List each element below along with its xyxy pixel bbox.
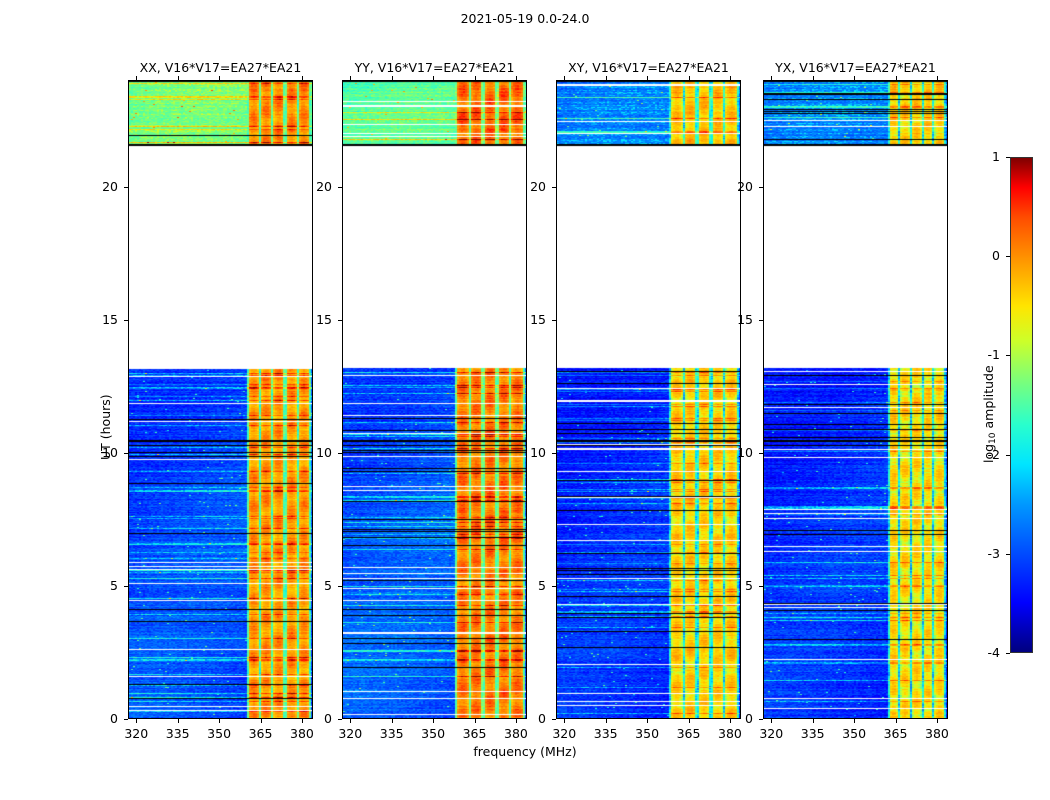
y-tick-label: 20 bbox=[723, 179, 753, 194]
heatmap-panel-xy[interactable] bbox=[556, 80, 741, 719]
x-tick-mark-top bbox=[261, 76, 262, 80]
x-tick-mark bbox=[136, 719, 137, 723]
panel-title-yy: YY, V16*V17=EA27*EA21 bbox=[342, 60, 527, 75]
y-tick-mark bbox=[552, 320, 556, 321]
panel-title-xx: XX, V16*V17=EA27*EA21 bbox=[128, 60, 313, 75]
x-tick-mark bbox=[564, 719, 565, 723]
x-tick-mark-top bbox=[813, 76, 814, 80]
x-tick-label: 350 bbox=[411, 726, 455, 741]
colorbar-tick-mark bbox=[1006, 157, 1010, 158]
x-tick-label: 320 bbox=[328, 726, 372, 741]
colorbar-tick-mark bbox=[1006, 653, 1010, 654]
y-tick-mark bbox=[338, 187, 342, 188]
y-tick-mark bbox=[552, 453, 556, 454]
x-tick-label: 335 bbox=[791, 726, 835, 741]
x-tick-label: 335 bbox=[584, 726, 628, 741]
x-tick-mark-top bbox=[302, 76, 303, 80]
x-tick-label: 380 bbox=[280, 726, 324, 741]
x-tick-mark-top bbox=[854, 76, 855, 80]
heatmap-image-yx bbox=[764, 81, 947, 718]
x-tick-mark-top bbox=[475, 76, 476, 80]
x-tick-label: 365 bbox=[667, 726, 711, 741]
x-tick-label: 350 bbox=[197, 726, 241, 741]
y-tick-mark bbox=[124, 453, 128, 454]
x-tick-label: 320 bbox=[542, 726, 586, 741]
x-tick-mark bbox=[433, 719, 434, 723]
x-tick-mark bbox=[475, 719, 476, 723]
y-tick-label: 5 bbox=[302, 578, 332, 593]
x-tick-label: 365 bbox=[239, 726, 283, 741]
colorbar-label-base: log bbox=[981, 444, 996, 463]
x-tick-mark-top bbox=[516, 76, 517, 80]
colorbar-tick-label: 0 bbox=[970, 248, 1000, 263]
panel-title-yx: YX, V16*V17=EA27*EA21 bbox=[763, 60, 948, 75]
x-tick-label: 335 bbox=[156, 726, 200, 741]
x-tick-mark bbox=[350, 719, 351, 723]
x-tick-label: 380 bbox=[915, 726, 959, 741]
x-tick-label: 320 bbox=[749, 726, 793, 741]
figure-canvas: 2021-05-19 0.0-24.0 XX, V16*V17=EA27*EA2… bbox=[0, 0, 1050, 800]
y-tick-mark bbox=[759, 719, 763, 720]
y-tick-mark bbox=[338, 453, 342, 454]
x-tick-label: 380 bbox=[494, 726, 538, 741]
panel-title-xy: XY, V16*V17=EA27*EA21 bbox=[556, 60, 741, 75]
figure-suptitle: 2021-05-19 0.0-24.0 bbox=[0, 11, 1050, 26]
x-tick-mark-top bbox=[219, 76, 220, 80]
heatmap-panel-yy[interactable] bbox=[342, 80, 527, 719]
x-tick-mark bbox=[937, 719, 938, 723]
x-tick-mark-top bbox=[771, 76, 772, 80]
y-tick-mark bbox=[759, 187, 763, 188]
x-tick-label: 365 bbox=[453, 726, 497, 741]
x-tick-mark bbox=[606, 719, 607, 723]
x-tick-mark-top bbox=[136, 76, 137, 80]
x-tick-mark bbox=[392, 719, 393, 723]
x-tick-label: 350 bbox=[832, 726, 876, 741]
heatmap-panel-xx[interactable] bbox=[128, 80, 313, 719]
y-tick-label: 0 bbox=[516, 711, 546, 726]
y-tick-mark bbox=[124, 187, 128, 188]
x-tick-mark-top bbox=[178, 76, 179, 80]
y-tick-label: 10 bbox=[302, 445, 332, 460]
y-tick-mark bbox=[124, 586, 128, 587]
x-tick-mark bbox=[771, 719, 772, 723]
y-tick-mark bbox=[124, 320, 128, 321]
y-tick-mark bbox=[124, 719, 128, 720]
x-tick-mark-top bbox=[433, 76, 434, 80]
heatmap-image-xy bbox=[557, 81, 740, 718]
y-tick-label: 5 bbox=[88, 578, 118, 593]
x-tick-label: 380 bbox=[708, 726, 752, 741]
y-tick-mark bbox=[338, 320, 342, 321]
colorbar-tick-mark bbox=[1006, 554, 1010, 555]
colorbar-label-rest: amplitude bbox=[981, 365, 996, 432]
x-tick-mark bbox=[689, 719, 690, 723]
y-tick-label: 15 bbox=[516, 312, 546, 327]
y-tick-label: 0 bbox=[88, 711, 118, 726]
y-tick-mark bbox=[759, 320, 763, 321]
colorbar-tick-label: -4 bbox=[970, 645, 1000, 660]
y-tick-label: 10 bbox=[516, 445, 546, 460]
x-tick-mark-top bbox=[647, 76, 648, 80]
colorbar-tick-label: 1 bbox=[970, 149, 1000, 164]
x-tick-mark-top bbox=[896, 76, 897, 80]
x-axis-label: frequency (MHz) bbox=[0, 744, 1050, 759]
y-tick-label: 20 bbox=[516, 179, 546, 194]
y-tick-mark bbox=[759, 586, 763, 587]
x-tick-label: 365 bbox=[874, 726, 918, 741]
y-tick-mark bbox=[338, 719, 342, 720]
y-tick-label: 0 bbox=[723, 711, 753, 726]
y-tick-label: 5 bbox=[723, 578, 753, 593]
y-tick-mark bbox=[759, 453, 763, 454]
x-tick-mark bbox=[813, 719, 814, 723]
y-tick-label: 10 bbox=[723, 445, 753, 460]
y-tick-label: 15 bbox=[302, 312, 332, 327]
x-tick-mark-top bbox=[564, 76, 565, 80]
x-tick-mark-top bbox=[730, 76, 731, 80]
y-tick-label: 0 bbox=[302, 711, 332, 726]
x-tick-mark bbox=[261, 719, 262, 723]
y-tick-label: 5 bbox=[516, 578, 546, 593]
colorbar-tick-label: -1 bbox=[970, 347, 1000, 362]
x-tick-mark bbox=[647, 719, 648, 723]
colorbar-label: log10 amplitude bbox=[981, 365, 998, 463]
x-tick-label: 320 bbox=[114, 726, 158, 741]
x-tick-mark bbox=[178, 719, 179, 723]
y-tick-mark bbox=[552, 187, 556, 188]
x-tick-mark bbox=[896, 719, 897, 723]
x-tick-mark-top bbox=[689, 76, 690, 80]
y-tick-label: 15 bbox=[723, 312, 753, 327]
colorbar-tick-mark bbox=[1006, 455, 1010, 456]
y-tick-label: 20 bbox=[88, 179, 118, 194]
colorbar-tick-label: -3 bbox=[970, 546, 1000, 561]
x-tick-label: 350 bbox=[625, 726, 669, 741]
x-tick-mark-top bbox=[392, 76, 393, 80]
y-axis-label: UT (hours) bbox=[98, 394, 113, 460]
x-tick-mark-top bbox=[937, 76, 938, 80]
colorbar-tick-mark bbox=[1006, 355, 1010, 356]
y-tick-label: 15 bbox=[88, 312, 118, 327]
colorbar-tick-mark bbox=[1006, 256, 1010, 257]
x-tick-mark-top bbox=[350, 76, 351, 80]
y-tick-mark bbox=[552, 719, 556, 720]
x-tick-mark bbox=[854, 719, 855, 723]
x-tick-mark-top bbox=[606, 76, 607, 80]
heatmap-panel-yx[interactable] bbox=[763, 80, 948, 719]
x-tick-label: 335 bbox=[370, 726, 414, 741]
colorbar[interactable] bbox=[1010, 157, 1033, 653]
y-tick-mark bbox=[552, 586, 556, 587]
y-tick-label: 20 bbox=[302, 179, 332, 194]
y-tick-mark bbox=[338, 586, 342, 587]
heatmap-image-xx bbox=[129, 81, 312, 718]
colorbar-label-subscript: 10 bbox=[988, 432, 998, 443]
heatmap-image-yy bbox=[343, 81, 526, 718]
x-tick-mark bbox=[219, 719, 220, 723]
